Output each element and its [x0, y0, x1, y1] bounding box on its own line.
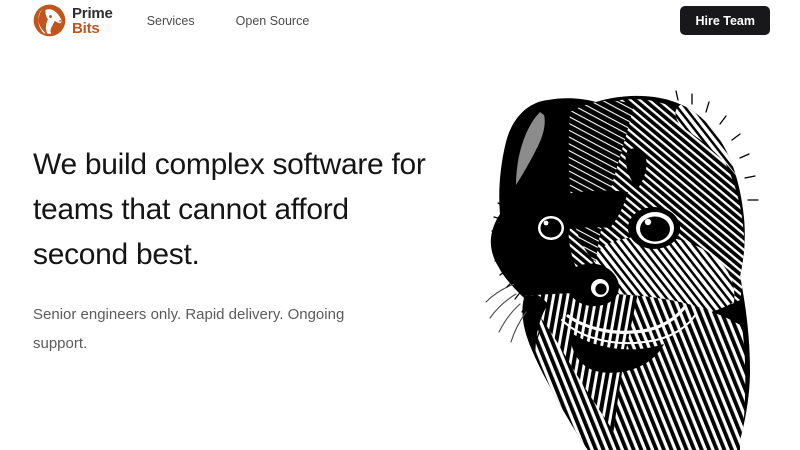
hero-headline: We build complex software for teams that…: [33, 142, 433, 277]
hire-team-button[interactable]: Hire Team: [680, 6, 770, 35]
nav-item-open-source[interactable]: Open Source: [236, 14, 310, 28]
hero-subheadline: Senior engineers only. Rapid delivery. O…: [33, 300, 363, 358]
site-header: Prime Bits Services Open Source Hire Tea…: [0, 0, 800, 41]
brand-word-prime: Prime: [72, 6, 113, 21]
brand-wordmark: Prime Bits: [72, 5, 113, 37]
mongoose-head-engraving-illustration: [478, 88, 770, 450]
main-navigation: Services Open Source: [147, 14, 310, 28]
landing-page: Prime Bits Services Open Source Hire Tea…: [0, 0, 800, 450]
hero-copy: We build complex software for teams that…: [33, 142, 433, 358]
nav-item-services[interactable]: Services: [147, 14, 195, 28]
hero-section: We build complex software for teams that…: [0, 41, 800, 450]
brand-logo[interactable]: Prime Bits: [33, 4, 113, 37]
mongoose-head-badge-icon: [33, 4, 66, 37]
brand-word-bits: Bits: [72, 21, 113, 37]
